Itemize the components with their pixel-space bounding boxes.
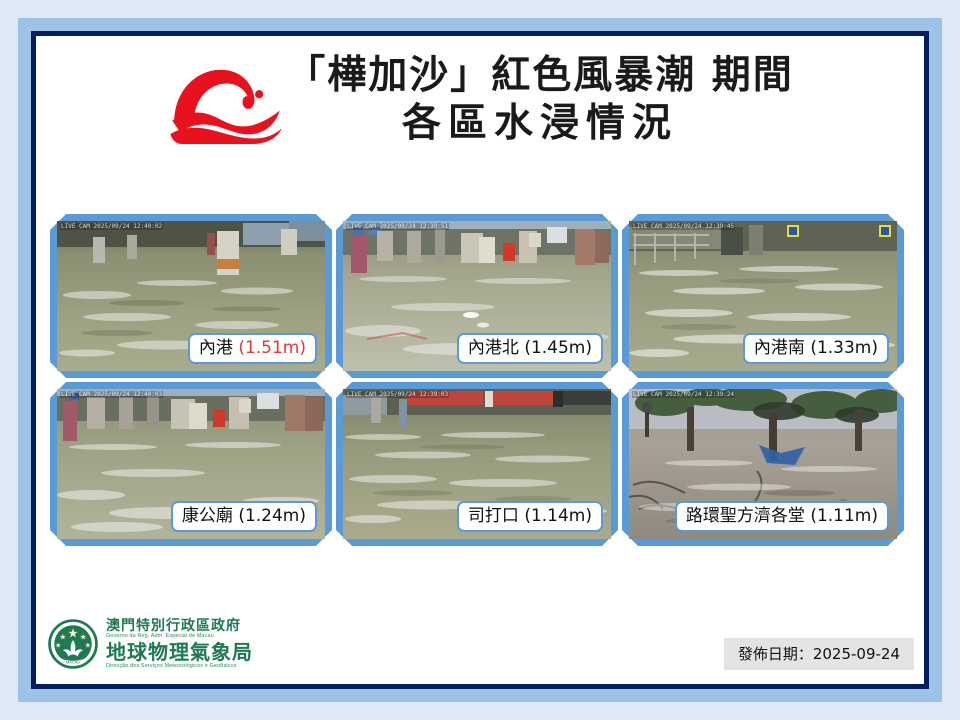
panel-caption: 康公廟 (1.24m) [171,501,317,532]
panel-water-level: (1.14m) [524,506,592,526]
panel-water-level: (1.33m) [810,338,878,358]
macao-sar-emblem-icon: MACAU [48,619,98,669]
government-logo-text: 澳門特別行政區政府 Governo da Reg. Adm. Especial … [106,619,253,670]
panel-caption: 路環聖方濟各堂 (1.11m) [675,501,889,532]
gov-name-zh-2: 地球物理氣象局 [106,642,253,663]
flood-photo-panel[interactable]: LIVE CAM 2025/09/24 12:39:45 內港南 (1.33m) [622,214,904,378]
cctv-timestamp: LIVE CAM 2025/09/24 12:39:03 [346,391,449,398]
panel-location: 司打口 [468,506,519,526]
panel-water-level: (1.45m) [524,338,592,358]
red-wave-icon [166,62,284,144]
poster-title-line-2: 各區水浸情況 [286,100,794,148]
poster-title-line-1: 「樺加沙」紅色風暴潮 期間 [286,52,794,100]
panel-water-level: (1.51m) [238,338,306,358]
gov-name-zh-1: 澳門特別行政區政府 [106,619,253,634]
panel-caption: 內港 (1.51m) [188,333,317,364]
panel-location: 內港北 [468,338,519,358]
panel-location: 康公廟 [182,506,233,526]
poster-title-block: 「樺加沙」紅色風暴潮 期間 各區水浸情況 [286,52,794,147]
publish-date-badge: 發佈日期：2025-09-24 [724,638,914,670]
flood-photo-panel[interactable]: LIVE CAM 2025/09/24 12:40:03 康公廟 (1.24m) [50,382,332,546]
panel-photo-clip: LIVE CAM 2025/09/24 12:40:02 內港 (1.51m) [57,221,325,371]
panel-caption: 內港北 (1.45m) [457,333,603,364]
panel-location: 路環聖方濟各堂 [686,506,805,526]
cctv-timestamp: LIVE CAM 2025/09/24 12:39:45 [632,223,735,230]
cctv-timestamp: LIVE CAM 2025/09/24 12:40:02 [60,223,163,230]
panel-location: 內港南 [754,338,805,358]
panel-photo-clip: LIVE CAM 2025/09/24 12:39:45 內港南 (1.33m) [629,221,897,371]
flood-photo-panel[interactable]: LIVE CAM 2025/09/24 12:40:02 內港 (1.51m) [50,214,332,378]
flood-photo-grid: LIVE CAM 2025/09/24 12:40:02 內港 (1.51m) [50,214,908,546]
svg-text:MACAU: MACAU [66,660,80,665]
flood-photo-panel[interactable]: LIVE CAM 2025/09/24 12:39:51 內港北 (1.45m) [336,214,618,378]
panel-caption: 內港南 (1.33m) [743,333,889,364]
poster-canvas: 「樺加沙」紅色風暴潮 期間 各區水浸情況 [36,36,924,684]
poster-root: 「樺加沙」紅色風暴潮 期間 各區水浸情況 [0,0,960,720]
panel-photo-clip: LIVE CAM 2025/09/24 12:39:24 路環聖方濟各堂 (1.… [629,389,897,539]
poster-header: 「樺加沙」紅色風暴潮 期間 各區水浸情況 [36,52,924,147]
panel-caption: 司打口 (1.14m) [457,501,603,532]
cctv-timestamp: LIVE CAM 2025/09/24 12:39:24 [632,391,735,398]
panel-water-level: (1.24m) [238,506,306,526]
panel-water-level: (1.11m) [810,506,878,526]
gov-name-pt-2: Direcção dos Serviços Meteorológicos e G… [106,664,253,670]
panel-photo-clip: LIVE CAM 2025/09/24 12:39:51 內港北 (1.45m) [343,221,611,371]
cctv-timestamp: LIVE CAM 2025/09/24 12:40:03 [60,391,163,398]
cctv-timestamp: LIVE CAM 2025/09/24 12:39:51 [346,223,449,230]
panel-photo-clip: LIVE CAM 2025/09/24 12:39:03 司打口 (1.14m) [343,389,611,539]
government-logo: MACAU 澳門特別行政區政府 Governo da Reg. Adm. Esp… [48,619,253,670]
flood-photo-panel[interactable]: LIVE CAM 2025/09/24 12:39:03 司打口 (1.14m) [336,382,618,546]
panel-photo-clip: LIVE CAM 2025/09/24 12:40:03 康公廟 (1.24m) [57,389,325,539]
panel-location: 內港 [199,338,233,358]
flood-photo-panel[interactable]: LIVE CAM 2025/09/24 12:39:24 路環聖方濟各堂 (1.… [622,382,904,546]
